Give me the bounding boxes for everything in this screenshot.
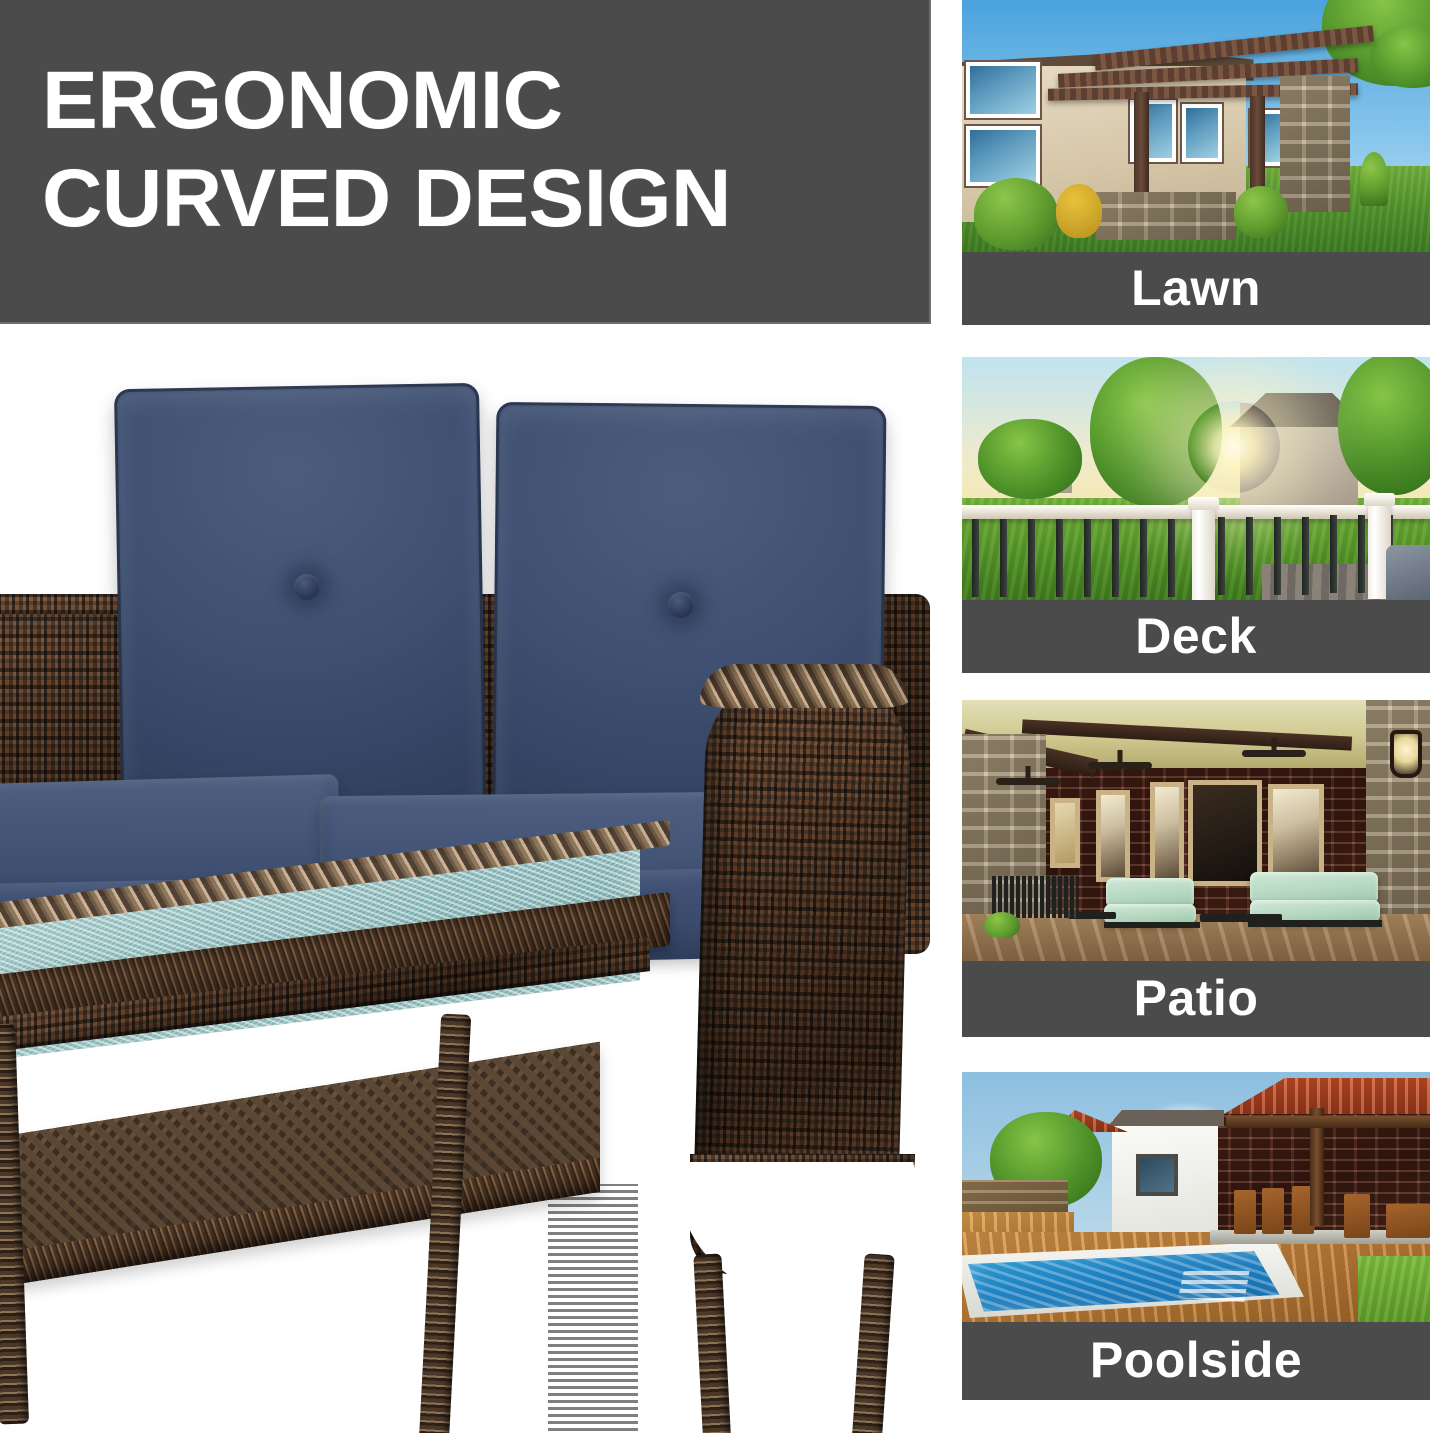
loveseat-right-arm-top-rope: [700, 664, 908, 708]
wall-lantern-icon: [1390, 730, 1422, 778]
product-hero-photo: [0, 324, 931, 1433]
baluster: [1330, 515, 1337, 593]
tufted-button-right: [668, 592, 694, 618]
card-label-lawn: Lawn: [1131, 263, 1261, 313]
use-case-card-lawn[interactable]: Lawn: [962, 0, 1430, 325]
baluster: [1140, 519, 1147, 597]
card-label-deck: Deck: [1135, 611, 1257, 661]
use-case-card-deck[interactable]: Deck: [962, 357, 1430, 673]
shrub: [974, 178, 1058, 250]
page-title: ERGONOMIC CURVED DESIGN: [42, 52, 731, 248]
card-label-poolside: Poolside: [1090, 1335, 1302, 1385]
shrub: [1360, 152, 1388, 206]
grass-patch: [1358, 1256, 1430, 1322]
use-case-cards: Lawn: [962, 0, 1430, 1433]
patio-door: [1096, 790, 1130, 882]
window: [966, 62, 1040, 118]
patio-window: [1268, 784, 1324, 882]
headline-panel: ERGONOMIC CURVED DESIGN: [0, 0, 931, 324]
loveseat-right-arm: [693, 669, 912, 1219]
baluster: [1000, 519, 1007, 597]
patio-window: [1050, 798, 1080, 868]
baluster: [1274, 517, 1281, 595]
card-label-bar-deck: Deck: [962, 600, 1430, 673]
ceiling-fan-icon: [1088, 762, 1152, 769]
pergola-post: [1250, 96, 1265, 196]
baluster: [1302, 517, 1309, 595]
baluster: [1168, 519, 1175, 597]
pool-steps: [1178, 1268, 1250, 1302]
wood-chair: [1262, 1188, 1284, 1234]
baluster: [1112, 519, 1119, 597]
window: [1136, 1154, 1178, 1196]
potted-plant: [1234, 186, 1288, 238]
lawn-scene: [962, 0, 1430, 252]
stone-planter-wall: [1096, 192, 1236, 240]
baluster: [1218, 517, 1225, 595]
card-label-patio: Patio: [1134, 973, 1259, 1023]
use-case-card-poolside[interactable]: Poolside: [962, 1072, 1430, 1400]
baluster: [1056, 519, 1063, 597]
deck-scene: [962, 357, 1430, 600]
baluster: [1358, 515, 1365, 593]
mint-cushion: [1104, 904, 1196, 924]
flower-cluster: [1056, 184, 1102, 238]
wood-chair: [1344, 1194, 1370, 1238]
baluster: [1084, 519, 1091, 597]
baluster: [1028, 519, 1035, 597]
deck-furniture: [1386, 545, 1430, 601]
potted-plant: [984, 912, 1020, 938]
deck-post-cap: [1188, 497, 1219, 510]
use-case-card-patio[interactable]: Patio: [962, 700, 1430, 1037]
baluster: [972, 519, 979, 597]
poolside-scene: [962, 1072, 1430, 1322]
baluster: [1246, 517, 1253, 595]
loveseat-curved-front-leg: [548, 1184, 638, 1433]
pool-house-roof: [1108, 1110, 1224, 1126]
window: [966, 126, 1040, 186]
tree-icon: [978, 419, 1082, 499]
card-label-bar-patio: Patio: [962, 961, 1430, 1037]
ceiling-fan-icon: [1242, 750, 1306, 757]
deck-post: [1192, 507, 1215, 601]
sun-icon: [1188, 401, 1280, 493]
furniture-frame: [1104, 922, 1200, 928]
left-column: ERGONOMIC CURVED DESIGN: [0, 0, 931, 1433]
card-label-bar-lawn: Lawn: [962, 252, 1430, 325]
tile-roof: [1188, 1078, 1430, 1118]
ceiling-fan-icon: [996, 778, 1060, 785]
patio-scene: [962, 700, 1430, 961]
patio-sliding-door: [1188, 780, 1262, 886]
wood-chair: [1234, 1190, 1256, 1234]
card-label-bar-poolside: Poolside: [962, 1322, 1430, 1400]
tufted-button-left: [294, 574, 320, 600]
coffee-table: [1200, 914, 1282, 922]
window: [1182, 104, 1222, 162]
pergola-beam: [1226, 1116, 1430, 1128]
pergola-post: [1134, 92, 1149, 192]
deck-post-cap: [1364, 493, 1395, 506]
stone-column: [1280, 76, 1350, 212]
wood-bench: [1386, 1204, 1430, 1238]
patio-door: [1150, 782, 1184, 884]
